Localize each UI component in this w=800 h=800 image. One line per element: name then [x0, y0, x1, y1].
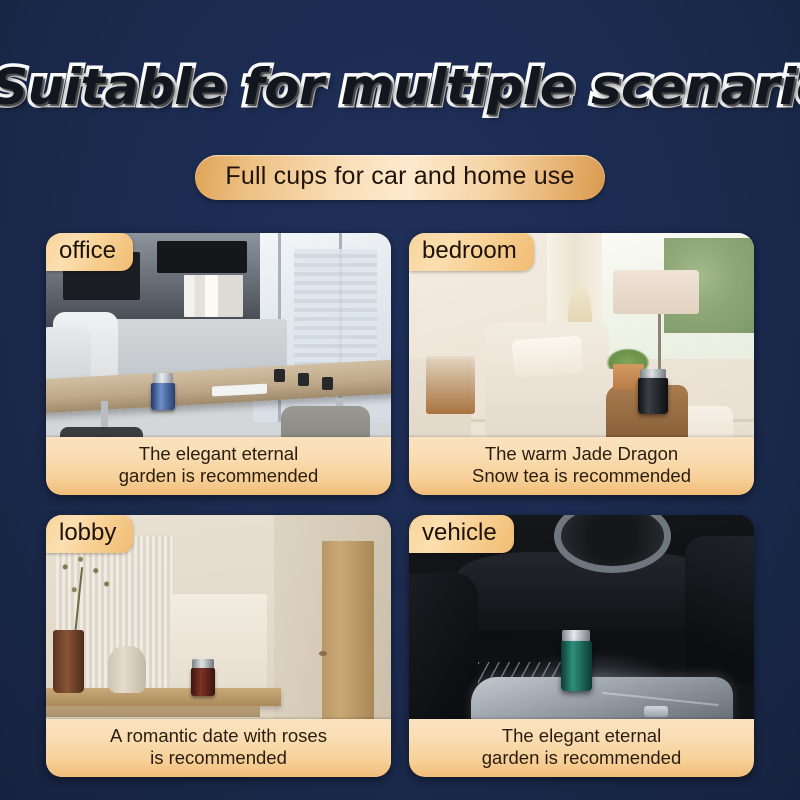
office-city-tower	[294, 249, 377, 380]
bottle-body	[638, 378, 667, 414]
vehicle-console-button	[644, 706, 668, 716]
scenario-card-lobby[interactable]: lobby A romantic date with roses is reco…	[46, 515, 391, 777]
scenario-tag-office: office	[46, 233, 133, 271]
lobby-amber-vase	[53, 630, 84, 693]
subtitle-container: Full cups for car and home use	[0, 155, 800, 200]
page-title: Suitable for multiple scenarios	[0, 58, 800, 116]
lobby-ceramic-vase	[108, 646, 146, 693]
caption-line-2: garden is recommended	[417, 747, 746, 768]
caption-line-2: Snow tea is recommended	[417, 465, 746, 486]
office-desk-port-3	[322, 377, 333, 390]
bottle-cap	[153, 373, 173, 383]
scenario-card-office[interactable]: office The elegant eternal garden is rec…	[46, 233, 391, 495]
caption-line-1: The elegant eternal	[54, 443, 383, 464]
product-bottle-vehicle	[561, 630, 592, 690]
lobby-door	[322, 541, 374, 745]
scenario-card-grid: office The elegant eternal garden is rec…	[46, 233, 754, 777]
scenario-caption-office: The elegant eternal garden is recommende…	[46, 437, 391, 495]
office-desk-port-2	[298, 373, 309, 386]
headline-container: Suitable for multiple scenarios	[0, 58, 800, 116]
scenario-caption-bedroom: The warm Jade Dragon Snow tea is recomme…	[409, 437, 754, 495]
scenario-caption-lobby: A romantic date with roses is recommende…	[46, 719, 391, 777]
promo-poster: Suitable for multiple scenarios Full cup…	[0, 0, 800, 800]
product-bottle-office	[151, 373, 175, 410]
bedroom-lamp-shade	[613, 270, 699, 315]
scenario-card-vehicle[interactable]: vehicle The elegant eternal garden is re…	[409, 515, 754, 777]
bottle-body	[561, 641, 592, 690]
scenario-caption-vehicle: The elegant eternal garden is recommende…	[409, 719, 754, 777]
scenario-tag-vehicle: vehicle	[409, 515, 514, 553]
scenario-tag-bedroom: bedroom	[409, 233, 534, 271]
caption-line-1: The warm Jade Dragon	[417, 443, 746, 464]
lobby-dried-branches	[49, 546, 139, 640]
lobby-wall-panel	[170, 594, 267, 688]
bottle-body	[191, 668, 215, 696]
bedroom-nightstand	[426, 356, 474, 414]
subtitle-badge: Full cups for car and home use	[195, 155, 604, 200]
caption-line-1: The elegant eternal	[417, 725, 746, 746]
caption-line-2: is recommended	[54, 747, 383, 768]
bottle-body	[151, 383, 175, 410]
bedroom-cushion	[511, 335, 582, 376]
scenario-card-bedroom[interactable]: bedroom The warm Jade Dragon Snow tea is…	[409, 233, 754, 495]
lobby-lower-ledge	[46, 706, 260, 716]
scenario-tag-lobby: lobby	[46, 515, 133, 553]
office-books	[184, 275, 243, 317]
product-bottle-lobby	[191, 659, 215, 696]
office-desk-port-1	[274, 369, 285, 382]
caption-line-2: garden is recommended	[54, 465, 383, 486]
caption-line-1: A romantic date with roses	[54, 725, 383, 746]
product-bottle-bedroom	[638, 369, 667, 414]
vehicle-seat-right	[685, 536, 754, 683]
